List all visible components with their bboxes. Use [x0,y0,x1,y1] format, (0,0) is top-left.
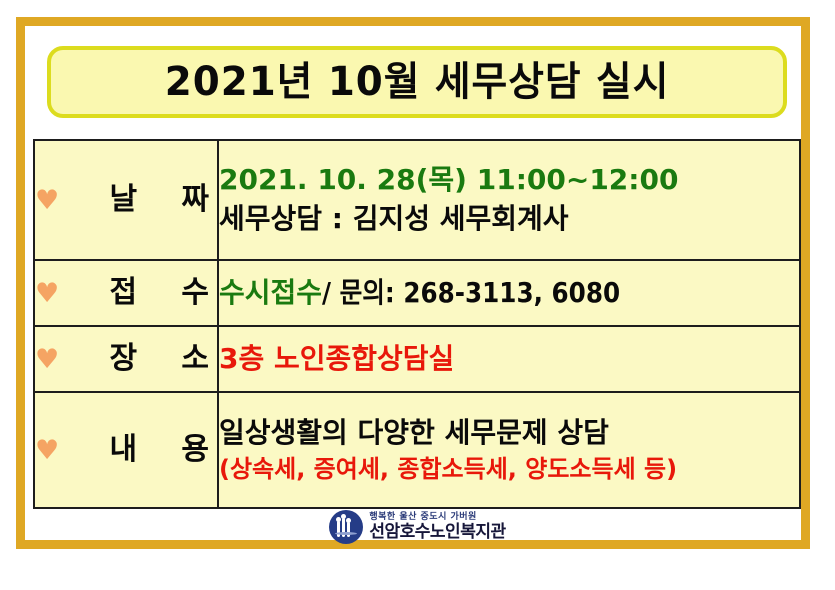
row-label-char: 내 [110,435,138,465]
welfare-center-logo-icon [329,510,363,544]
date-time-text: 2021. 10. 28(목) 11:00~12:00 [219,161,799,200]
row-label-char: 접 [110,278,138,308]
row-label-char: 수 [181,278,209,308]
row-value-place: 3층 노인종합상담실 [218,326,800,392]
table-row: ♥ 접 수 수시접수 / 문의: 268-3113, 6080 [34,260,800,326]
apply-contact-text: / 문의: 268-3113, 6080 [322,274,620,313]
row-label-place: ♥ 장 소 [34,326,218,392]
table-row: ♥ 장 소 3층 노인종합상담실 [34,326,800,392]
row-label-char: 용 [181,435,209,465]
row-value-content: 일상생활의 다양한 세무문제 상담 (상속세, 증여세, 종합소득세, 양도소득… [218,392,800,508]
title-banner: 2021년 10월 세무상담 실시 [47,46,787,118]
heart-icon: ♥ [35,187,59,214]
row-label-content: ♥ 내 용 [34,392,218,508]
row-label-char: 짜 [181,185,209,215]
place-text: 3층 노인종합상담실 [219,340,799,379]
logo-tagline: 행복한 울산 중도시 가버원 [369,513,505,522]
content-detail-text: (상속세, 증여세, 종합소득세, 양도소득세 등) [219,453,799,486]
row-label-char: 장 [110,344,138,374]
table-row: ♥ 내 용 일상생활의 다양한 세무문제 상담 (상속세, 증여세, 종합소득세… [34,392,800,508]
info-table: ♥ 날 짜 2021. 10. 28(목) 11:00~12:00 세무상담 :… [33,139,801,509]
row-value-date: 2021. 10. 28(목) 11:00~12:00 세무상담 : 김지성 세… [218,140,800,260]
heart-icon: ♥ [35,280,59,307]
row-label-char: 소 [181,344,209,374]
row-label-char: 날 [110,185,138,215]
row-value-apply: 수시접수 / 문의: 268-3113, 6080 [218,260,800,326]
table-row: ♥ 날 짜 2021. 10. 28(목) 11:00~12:00 세무상담 :… [34,140,800,260]
page-title: 2021년 10월 세무상담 실시 [165,62,670,102]
poster-canvas: 2021년 10월 세무상담 실시 ♥ 날 짜 2021. 10. 28(목) … [0,0,835,590]
apply-line: 수시접수 / 문의: 268-3113, 6080 [219,274,799,313]
row-label-apply: ♥ 접 수 [34,260,218,326]
heart-icon: ♥ [35,437,59,464]
organization-logo: 행복한 울산 중도시 가버원 선암호수노인복지관 [0,510,835,544]
logo-name: 선암호수노인복지관 [369,524,505,541]
row-label-date: ♥ 날 짜 [34,140,218,260]
content-main-text: 일상생활의 다양한 세무문제 상담 [219,414,799,453]
apply-method-text: 수시접수 [219,276,322,309]
heart-icon: ♥ [35,346,59,373]
counselor-text: 세무상담 : 김지성 세무회계사 [219,200,799,239]
